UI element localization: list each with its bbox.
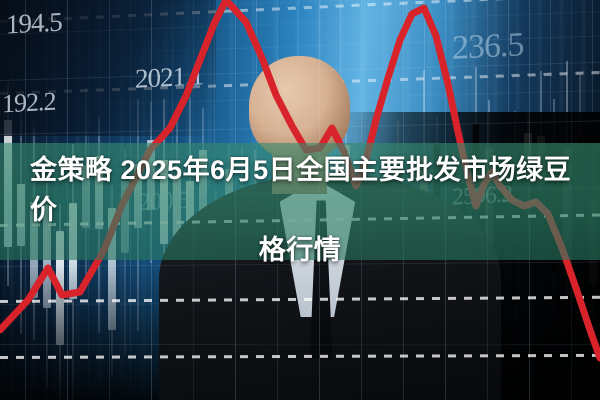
page-title-line1: 金策略 2025年6月5日全国主要批发市场绿豆价 xyxy=(24,150,576,230)
page-title: 金策略 2025年6月5日全国主要批发市场绿豆价 格行情 xyxy=(0,150,600,270)
page-title-line2: 格行情 xyxy=(24,230,576,270)
banner-image: 194.5192.22021.1200.5236.52596.2 金策略 202… xyxy=(0,0,600,400)
